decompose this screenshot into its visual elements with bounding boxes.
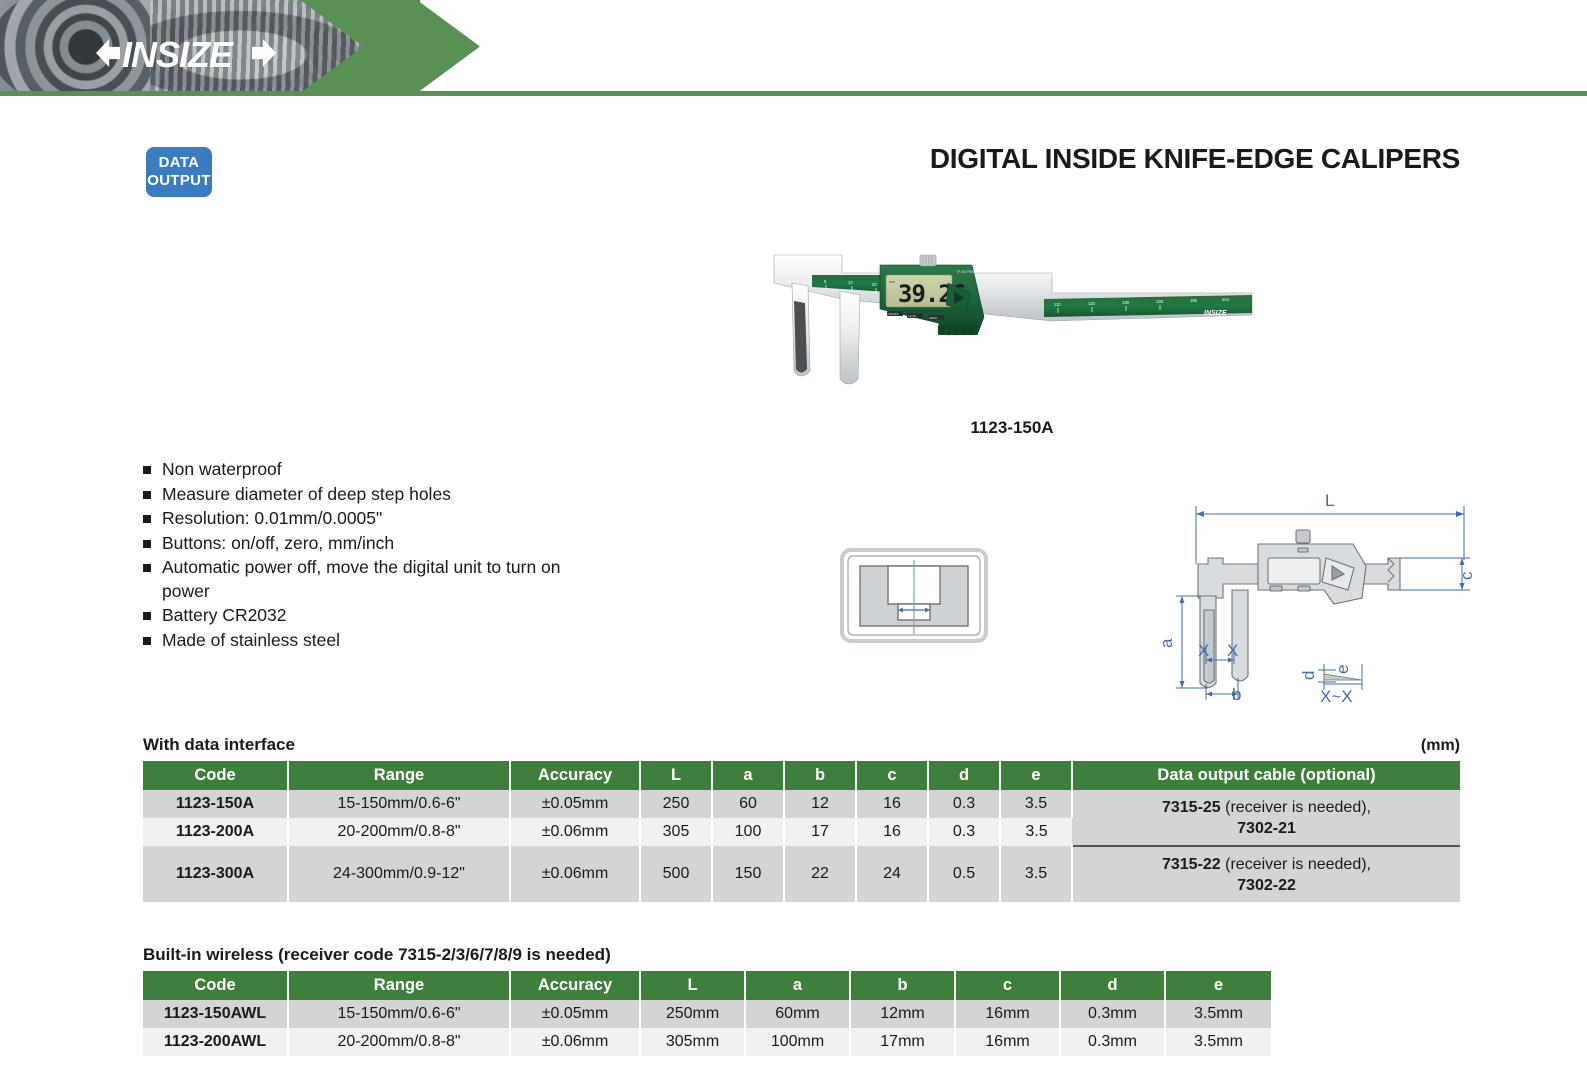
dim-label-e: e xyxy=(1333,665,1352,674)
cell-range: 24-300mm/0.9-12" xyxy=(288,846,510,902)
feature-text: Battery CR2032 xyxy=(162,604,563,628)
data-interface-table: Code Range Accuracy L a b c d e Data out… xyxy=(143,761,1460,902)
dim-label-X-right: X xyxy=(1227,641,1238,660)
cell-L: 500 xyxy=(640,846,712,902)
cell-code: 1123-200A xyxy=(143,818,288,846)
table2-label: Built-in wireless (receiver code 7315-2/… xyxy=(143,945,611,965)
col-header-accuracy: Accuracy xyxy=(510,971,640,1000)
dim-label-b: b xyxy=(1232,685,1241,703)
svg-text:INSIZE: INSIZE xyxy=(1204,310,1227,317)
right-arrow-icon xyxy=(252,39,276,67)
col-header-a: a xyxy=(745,971,850,1000)
cell-e: 3.5 xyxy=(1000,818,1072,846)
svg-text:10: 10 xyxy=(848,280,853,285)
col-header-range: Range xyxy=(288,971,510,1000)
list-item: Non waterproof xyxy=(143,458,563,482)
dim-label-L: L xyxy=(1325,491,1334,510)
col-header-d: d xyxy=(928,761,1000,790)
product-figure: 5102030 110120130 140150mm INSIZE 39.26 … xyxy=(752,243,1272,433)
feature-text: Non waterproof xyxy=(162,458,563,482)
col-header-code: Code xyxy=(143,761,288,790)
list-item: Resolution: 0.01mm/0.0005" xyxy=(143,507,563,531)
col-header-b: b xyxy=(784,761,856,790)
cell-range: 20-200mm/0.8-8" xyxy=(288,818,510,846)
col-header-cable: Data output cable (optional) xyxy=(1072,761,1460,790)
square-bullet-icon xyxy=(143,637,151,645)
cell-range: 15-150mm/0.6-6" xyxy=(288,1000,510,1028)
header-green-rule xyxy=(0,91,1587,96)
square-bullet-icon xyxy=(143,491,151,499)
logo-wordmark: INSIZE xyxy=(122,34,232,76)
cable-code-primary: 7315-25 xyxy=(1162,799,1221,816)
col-header-d: d xyxy=(1060,971,1165,1000)
svg-text:20: 20 xyxy=(872,282,877,287)
col-header-code: Code xyxy=(143,971,288,1000)
cable-code-secondary: 7302-22 xyxy=(1237,877,1296,894)
list-item: Battery CR2032 xyxy=(143,604,563,628)
svg-text:ON/OFF: ON/OFF xyxy=(888,312,899,316)
cell-cable-group-2: 7315-22 (receiver is needed), 7302-22 xyxy=(1072,846,1460,902)
svg-text:120: 120 xyxy=(1088,301,1096,306)
badge-line-2: OUTPUT xyxy=(147,172,210,190)
cable-code-secondary: 7302-21 xyxy=(1237,820,1296,837)
list-item: Made of stainless steel xyxy=(143,629,563,653)
col-header-range: Range xyxy=(288,761,510,790)
cell-b: 17mm xyxy=(850,1028,955,1056)
col-header-b: b xyxy=(850,971,955,1000)
dim-label-XX: X~X xyxy=(1320,687,1353,703)
cell-c: 16 xyxy=(856,790,928,818)
feature-list: Non waterproof Measure diameter of deep … xyxy=(143,458,563,653)
svg-text:IP 400 PSW: IP 400 PSW xyxy=(957,270,974,274)
cell-c: 16 xyxy=(856,818,928,846)
cell-d: 0.3mm xyxy=(1060,1000,1165,1028)
cable-code-primary: 7315-22 xyxy=(1162,856,1221,873)
feature-text: Automatic power off, move the digital un… xyxy=(162,556,563,603)
square-bullet-icon xyxy=(143,612,151,620)
table1-label: With data interface xyxy=(143,735,295,755)
cable-note: (receiver is needed), xyxy=(1221,856,1371,873)
cell-L: 305mm xyxy=(640,1028,745,1056)
svg-text:150: 150 xyxy=(1190,298,1198,303)
table-row: 1123-150AWL 15-150mm/0.6-6" ±0.05mm 250m… xyxy=(143,1000,1271,1028)
page-header: INSIZE xyxy=(0,0,1587,100)
application-diagram-icon xyxy=(840,548,988,643)
cell-a: 100 xyxy=(712,818,784,846)
cell-d: 0.3mm xyxy=(1060,1028,1165,1056)
cell-e: 3.5 xyxy=(1000,846,1072,902)
cable-note: (receiver is needed), xyxy=(1221,799,1371,816)
cell-accuracy: ±0.05mm xyxy=(510,790,640,818)
cell-a: 100mm xyxy=(745,1028,850,1056)
cell-d: 0.5 xyxy=(928,846,1000,902)
dim-label-X-left: X xyxy=(1198,641,1209,660)
cell-accuracy: ±0.06mm xyxy=(510,846,640,902)
page-title: DIGITAL INSIDE KNIFE-EDGE CALIPERS xyxy=(930,143,1460,175)
left-arrow-icon xyxy=(96,39,120,67)
list-item: Measure diameter of deep step holes xyxy=(143,483,563,507)
svg-text:110: 110 xyxy=(1054,302,1061,307)
cell-L: 250 xyxy=(640,790,712,818)
cell-cable-group-1: 7315-25 (receiver is needed), 7302-21 xyxy=(1072,790,1460,846)
cell-b: 17 xyxy=(784,818,856,846)
cell-b: 12 xyxy=(784,790,856,818)
square-bullet-icon xyxy=(143,515,151,523)
cell-b: 22 xyxy=(784,846,856,902)
cell-c: 16mm xyxy=(955,1028,1060,1056)
col-header-e: e xyxy=(1000,761,1072,790)
cell-d: 0.3 xyxy=(928,818,1000,846)
table-header-row: Code Range Accuracy L a b c d e xyxy=(143,971,1271,1000)
cell-e: 3.5 xyxy=(1000,790,1072,818)
col-header-L: L xyxy=(640,971,745,1000)
cell-code: 1123-300A xyxy=(143,846,288,902)
col-header-e: e xyxy=(1165,971,1271,1000)
list-item: Buttons: on/off, zero, mm/inch xyxy=(143,532,563,556)
col-header-a: a xyxy=(712,761,784,790)
svg-text:140: 140 xyxy=(1156,299,1164,304)
cell-c: 24 xyxy=(856,846,928,902)
cell-accuracy: ±0.06mm xyxy=(510,1028,640,1056)
square-bullet-icon xyxy=(143,466,151,474)
cell-accuracy: ±0.05mm xyxy=(510,1000,640,1028)
col-header-accuracy: Accuracy xyxy=(510,761,640,790)
dim-label-d: d xyxy=(1299,671,1318,680)
list-item: Automatic power off, move the digital un… xyxy=(143,556,563,603)
svg-text:mm: mm xyxy=(1222,297,1229,302)
cell-b: 12mm xyxy=(850,1000,955,1028)
unit-note: (mm) xyxy=(1421,737,1460,755)
feature-text: Resolution: 0.01mm/0.0005" xyxy=(162,507,563,531)
badge-line-1: DATA xyxy=(159,154,200,172)
square-bullet-icon xyxy=(143,564,151,572)
svg-text:mm: mm xyxy=(889,280,895,284)
cell-e: 3.5mm xyxy=(1165,1000,1271,1028)
table-header-row: Code Range Accuracy L a b c d e Data out… xyxy=(143,761,1460,790)
cell-a: 60mm xyxy=(745,1000,850,1028)
svg-text:130: 130 xyxy=(1122,300,1130,305)
feature-text: Made of stainless steel xyxy=(162,629,563,653)
data-output-badge: DATA OUTPUT xyxy=(146,147,212,197)
cell-d: 0.3 xyxy=(928,790,1000,818)
table-row: 1123-150A 15-150mm/0.6-6" ±0.05mm 250 60… xyxy=(143,790,1460,818)
col-header-L: L xyxy=(640,761,712,790)
cell-L: 250mm xyxy=(640,1000,745,1028)
cell-accuracy: ±0.06mm xyxy=(510,818,640,846)
cell-code: 1123-150AWL xyxy=(143,1000,288,1028)
built-in-wireless-table: Code Range Accuracy L a b c d e 1123-150… xyxy=(143,971,1271,1056)
feature-text: Buttons: on/off, zero, mm/inch xyxy=(162,532,563,556)
insize-logo[interactable]: INSIZE xyxy=(96,32,276,74)
cell-c: 16mm xyxy=(955,1000,1060,1028)
cell-range: 15-150mm/0.6-6" xyxy=(288,790,510,818)
cell-a: 60 xyxy=(712,790,784,818)
product-caption: 1123-150A xyxy=(752,418,1272,438)
col-header-c: c xyxy=(955,971,1060,1000)
square-bullet-icon xyxy=(143,540,151,548)
cell-code: 1123-200AWL xyxy=(143,1028,288,1056)
svg-text:ZERO: ZERO xyxy=(929,316,938,320)
table-row: 1123-300A 24-300mm/0.9-12" ±0.06mm 500 1… xyxy=(143,846,1460,902)
caliper-illustration: 5102030 110120130 140150mm INSIZE 39.26 … xyxy=(752,243,1272,403)
cell-code: 1123-150A xyxy=(143,790,288,818)
cell-a: 150 xyxy=(712,846,784,902)
dim-label-a: a xyxy=(1157,638,1176,648)
cell-range: 20-200mm/0.8-8" xyxy=(288,1028,510,1056)
cell-L: 305 xyxy=(640,818,712,846)
table-row: 1123-200AWL 20-200mm/0.8-8" ±0.06mm 305m… xyxy=(143,1028,1271,1056)
dimension-drawing: L c a b d e X X X~X xyxy=(1148,478,1478,703)
cell-e: 3.5mm xyxy=(1165,1028,1271,1056)
feature-text: Measure diameter of deep step holes xyxy=(162,483,563,507)
dim-label-c: c xyxy=(1457,571,1476,580)
col-header-c: c xyxy=(856,761,928,790)
svg-text:mm/in: mm/in xyxy=(908,314,916,318)
